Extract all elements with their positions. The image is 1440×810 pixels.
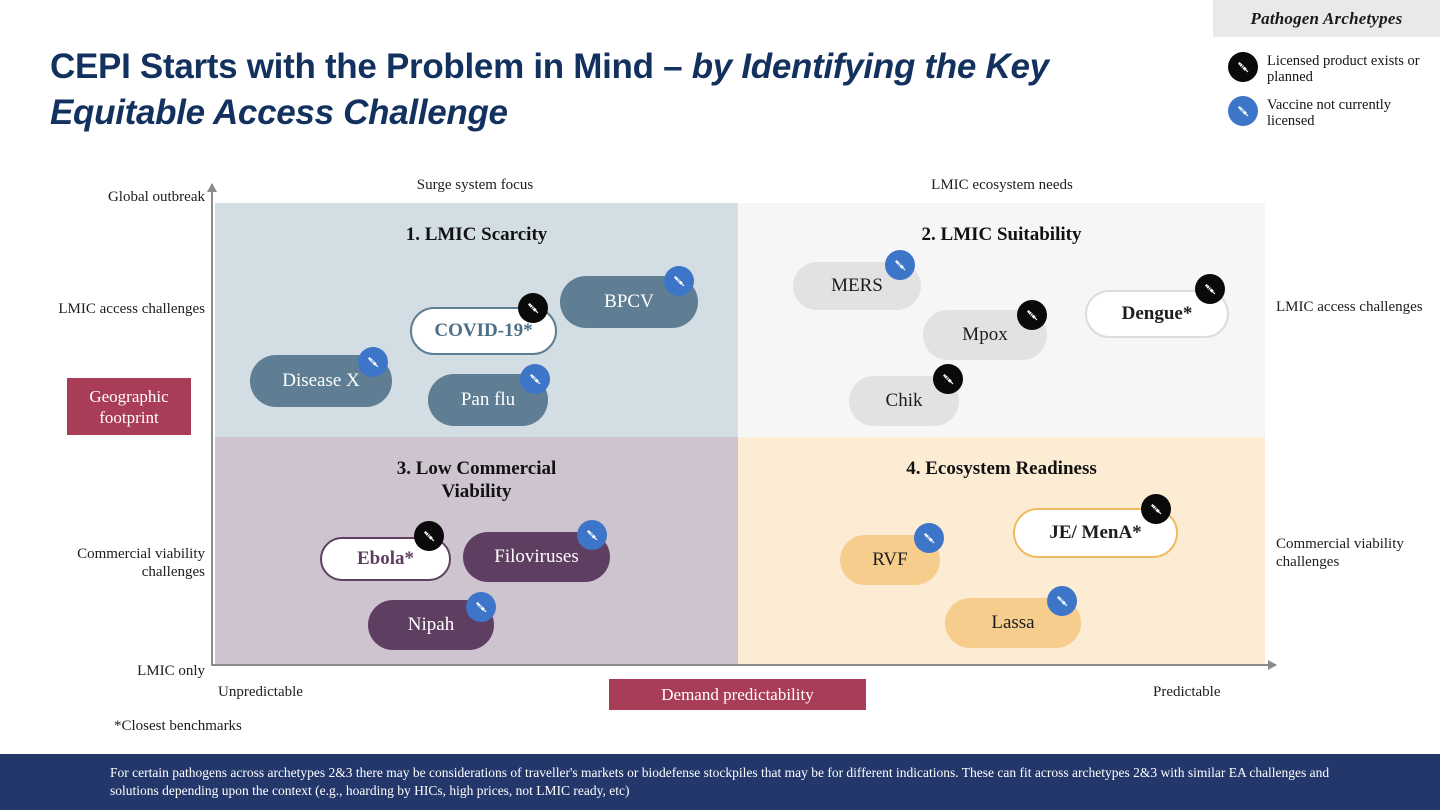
- syringe-icon: [1017, 300, 1047, 330]
- syringe-icon: [358, 347, 388, 377]
- syringe-icon: [1047, 586, 1077, 616]
- x-axis-left-label: Unpredictable: [218, 683, 303, 701]
- pathogen-pill-ebola[interactable]: Ebola*: [320, 537, 451, 581]
- footer-text: For certain pathogens across archetypes …: [0, 764, 1440, 800]
- syringe-icon: [518, 293, 548, 323]
- y-axis-lower-band-label: Commercial viability challenges: [40, 545, 205, 581]
- x-axis-right-label: Predictable: [1153, 683, 1220, 701]
- pathogen-pill-pan-flu[interactable]: Pan flu: [428, 374, 548, 426]
- pathogen-pill-dengue[interactable]: Dengue*: [1085, 290, 1229, 338]
- x-axis: [213, 664, 1276, 666]
- page-title-part1: CEPI Starts with the Problem in Mind –: [50, 47, 692, 86]
- legend-item-unlicensed: Vaccine not currently licensed: [1228, 96, 1440, 129]
- footer-banner: For certain pathogens across archetypes …: [0, 754, 1440, 810]
- pathogen-pill-je-mena[interactable]: JE/ MenA*: [1013, 508, 1178, 558]
- quadrant-1-title: 1. LMIC Scarcity: [215, 223, 738, 246]
- matrix-plot: 1. LMIC Scarcity 2. LMIC Suitability 3. …: [215, 203, 1265, 664]
- quadrant-2-title: 2. LMIC Suitability: [738, 223, 1265, 246]
- y-axis: [211, 184, 213, 666]
- pathogen-pill-mpox[interactable]: Mpox: [923, 310, 1047, 360]
- quadrant-4-title: 4. Ecosystem Readiness: [738, 457, 1265, 480]
- pathogen-pill-filoviruses[interactable]: Filoviruses: [463, 532, 610, 582]
- quadrant-3-title: 3. Low Commercial Viability: [215, 457, 738, 503]
- pathogen-pill-nipah[interactable]: Nipah: [368, 600, 494, 650]
- pathogen-pill-lassa[interactable]: Lassa: [945, 598, 1081, 648]
- syringe-icon: [1228, 96, 1258, 126]
- legend-heading: Pathogen Archetypes: [1251, 9, 1403, 29]
- legend-item-licensed: Licensed product exists or planned: [1228, 52, 1440, 85]
- legend-item-label: Vaccine not currently licensed: [1267, 96, 1440, 129]
- pathogen-pill-chik[interactable]: Chik: [849, 376, 959, 426]
- y-axis-upper-band-label: LMIC access challenges: [40, 300, 205, 318]
- syringe-icon: [1141, 494, 1171, 524]
- pathogen-pill-bpcv[interactable]: BPCV: [560, 276, 698, 328]
- syringe-icon: [520, 364, 550, 394]
- y-axis-right-lower-label: Commercial viability challenges: [1276, 535, 1436, 571]
- syringe-icon: [414, 521, 444, 551]
- pathogen-pill-covid-19[interactable]: COVID‑19*: [410, 307, 557, 355]
- y-axis-top-label: Global outbreak: [40, 188, 205, 206]
- pathogen-pill-rvf[interactable]: RVF: [840, 535, 940, 585]
- syringe-icon: [933, 364, 963, 394]
- y-axis-right-upper-label: LMIC access challenges: [1276, 298, 1436, 316]
- syringe-icon: [466, 592, 496, 622]
- syringe-icon: [1195, 274, 1225, 304]
- syringe-icon: [914, 523, 944, 553]
- top-right-axis-label: LMIC ecosystem needs: [872, 176, 1132, 194]
- top-left-axis-label: Surge system focus: [345, 176, 605, 194]
- syringe-icon: [664, 266, 694, 296]
- page-title: CEPI Starts with the Problem in Mind – b…: [50, 44, 1160, 136]
- x-axis-chip: Demand predictability: [609, 679, 866, 710]
- legend-header-band: Pathogen Archetypes: [1213, 0, 1440, 37]
- y-axis-chip: Geographic footprint: [67, 378, 191, 435]
- legend-items: Licensed product exists or planned Vacci…: [1228, 52, 1440, 140]
- syringe-icon: [885, 250, 915, 280]
- pathogen-pill-mers[interactable]: MERS: [793, 262, 921, 310]
- y-axis-bottom-label: LMIC only: [40, 662, 205, 680]
- syringe-icon: [577, 520, 607, 550]
- syringe-icon: [1228, 52, 1258, 82]
- pathogen-pill-disease-x[interactable]: Disease X: [250, 355, 392, 407]
- footnote: *Closest benchmarks: [114, 718, 242, 735]
- legend-item-label: Licensed product exists or planned: [1267, 52, 1440, 85]
